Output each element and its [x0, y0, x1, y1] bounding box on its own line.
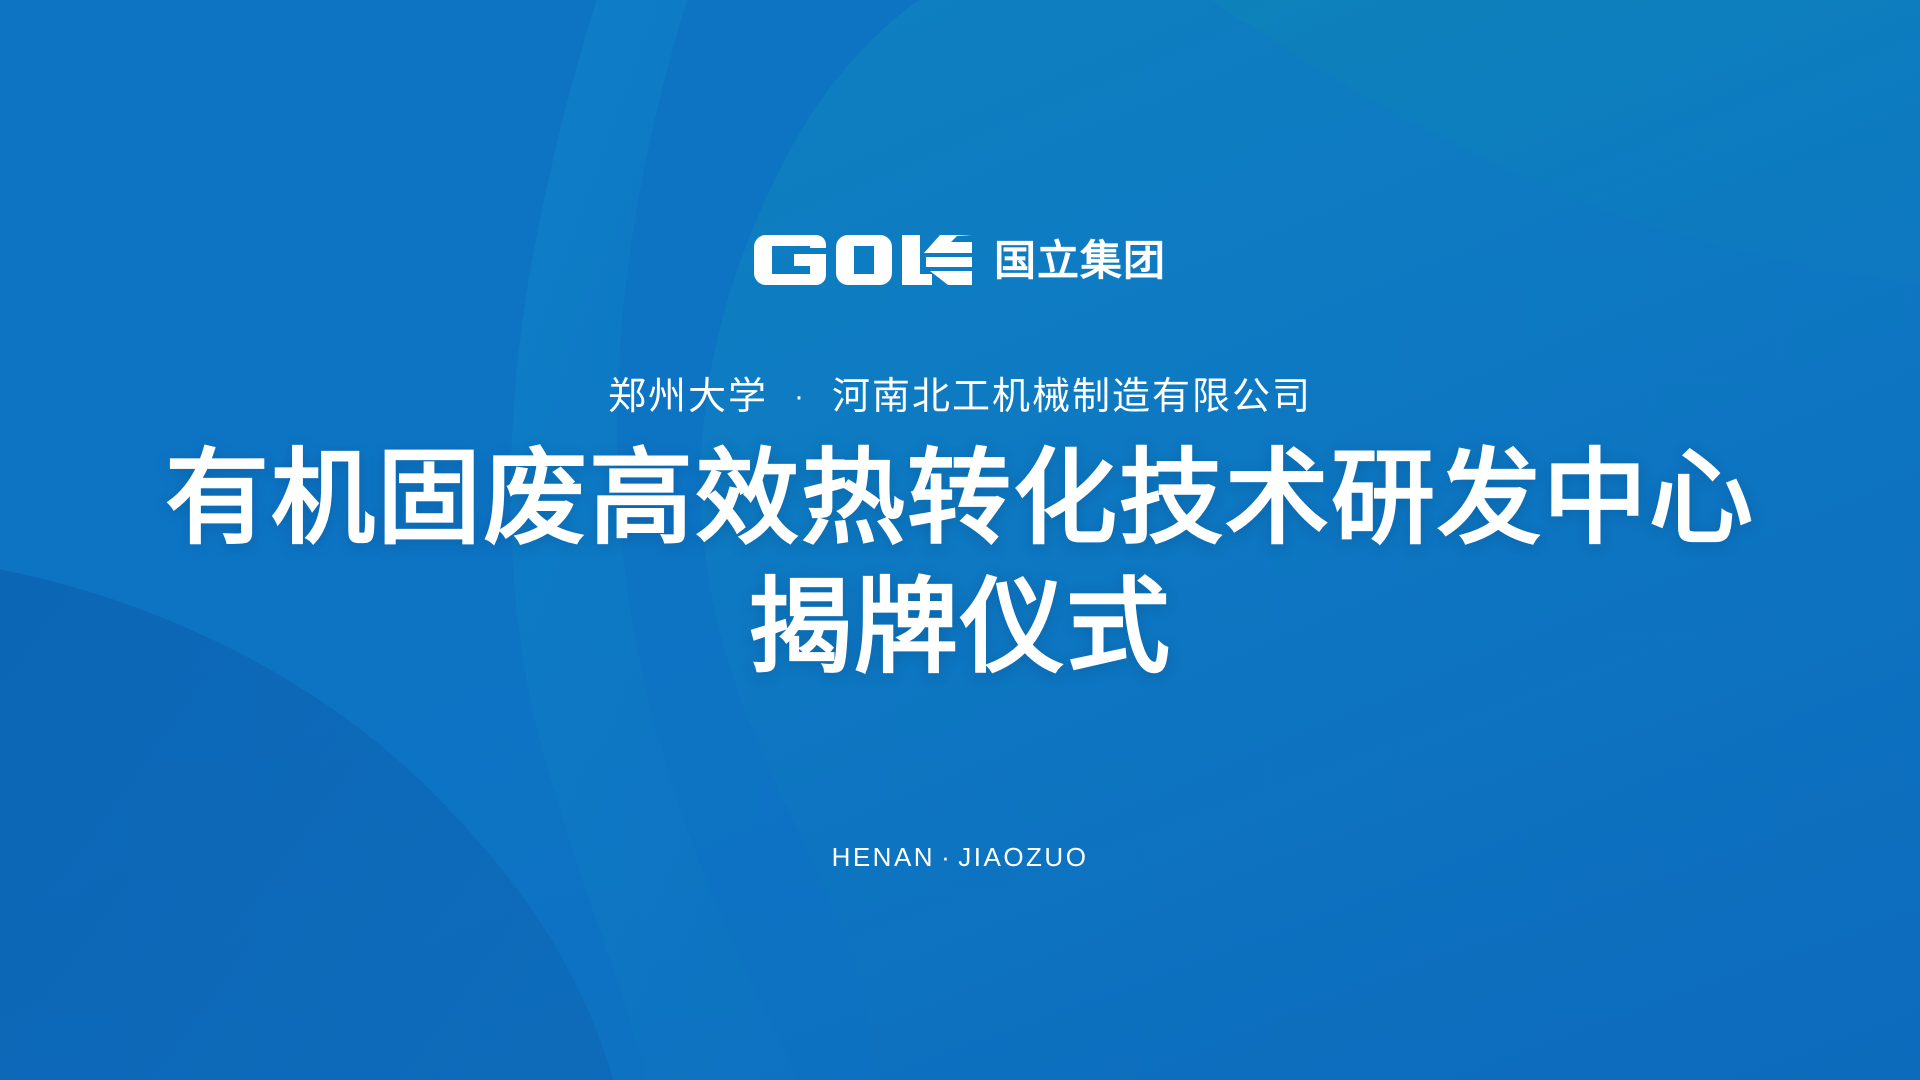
brand-logo: 国立集团 [0, 232, 1920, 288]
page-title-line-1: 有机固废高效热转化技术研发中心 [0, 440, 1920, 559]
page-title: 有机固废高效热转化技术研发中心 揭牌仪式 [0, 440, 1920, 687]
gole-wordmark-logo-icon [754, 235, 972, 285]
footer-location-right: JIAOZUO [958, 842, 1088, 872]
organization-second: 河南北工机械制造有限公司 [832, 376, 1312, 418]
organization-first: 郑州大学 [608, 376, 768, 418]
page-title-line-2: 揭牌仪式 [0, 569, 1920, 688]
slide-content: 国立集团 郑州大学·河南北工机械制造有限公司 有机固废高效热转化技术研发中心 揭… [0, 0, 1920, 1080]
organizations-separator: · [768, 380, 832, 413]
footer-separator: · [935, 842, 958, 872]
footer-location-left: HENAN [832, 842, 936, 872]
brand-logo-chinese: 国立集团 [994, 240, 1166, 282]
footer-location: HENAN·JIAOZUO [0, 842, 1920, 873]
organizations-line: 郑州大学·河南北工机械制造有限公司 [0, 375, 1920, 421]
title-slide: 国立集团 郑州大学·河南北工机械制造有限公司 有机固废高效热转化技术研发中心 揭… [0, 0, 1920, 1080]
